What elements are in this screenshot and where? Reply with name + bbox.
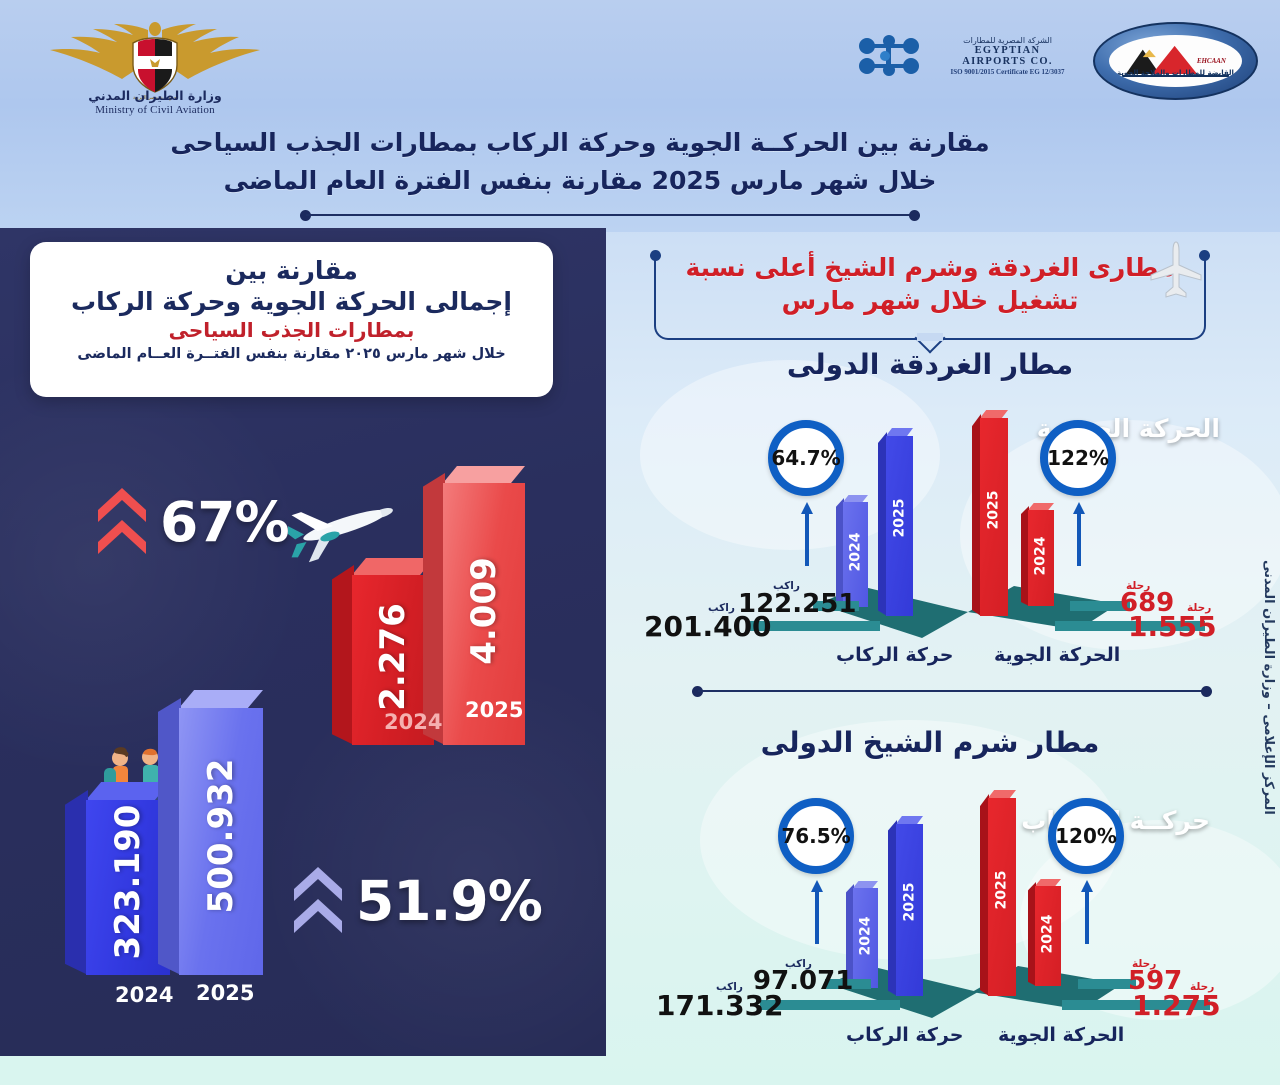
ministry-logo-caption: وزارة الطيران المدني Ministry of Civil A… — [30, 88, 280, 117]
bar-top-face — [843, 495, 868, 502]
summary-line-2: إجمالى الحركة الجوية وحركة الركاب — [30, 286, 553, 317]
summary-line-3: بمطارات الجذب السياحى — [30, 317, 553, 344]
total-air-traffic-percent: 67% — [160, 490, 289, 554]
page-title: مقارنة بين الحركــة الجوية وحركة الركاب … — [150, 124, 1010, 200]
bar-top-face — [1028, 503, 1054, 510]
divider-line — [698, 690, 1206, 692]
hurghada-flights-year-2025: 2025 — [986, 487, 1002, 534]
bar-top-face — [1035, 879, 1061, 886]
sharm-flights-value-2025: 1.275 — [1132, 989, 1221, 1022]
sharm-passengers-up-arrow — [810, 880, 824, 944]
sharm-passengers-value-2025: 171.332 — [656, 989, 784, 1022]
total-passengers-year-2025: 2025 — [196, 981, 254, 1005]
summary-line-1: مقارنة بين — [30, 256, 553, 286]
sharm-flights-category: الحركة الجوية — [998, 1024, 1124, 1046]
total-passengers-value-2024: 323.190 — [108, 800, 148, 964]
bar-side-face — [158, 698, 181, 975]
bar-top-face — [980, 410, 1008, 418]
total-air-traffic-value-2025: 4.009 — [464, 548, 504, 674]
total-passengers-bar-2025: 500.932 — [179, 708, 263, 975]
sharm-flights-year-2025: 2025 — [994, 867, 1010, 914]
sharm-flights-up-arrow — [1080, 880, 1094, 944]
hurghada-flights-category: الحركة الجوية — [994, 644, 1120, 666]
sharm-passengers-percent: 76.5% — [781, 824, 850, 848]
sharm-passengers-year-2024: 2024 — [858, 913, 874, 960]
hurghada-flights-bar-2025: 2025 — [980, 418, 1008, 616]
hurghada-passengers-year-2025: 2025 — [892, 495, 908, 542]
panel-glow-1 — [0, 348, 310, 778]
divider-dot-right — [1201, 686, 1212, 697]
airports-iso-certificate: ISO 9001/2015 Certificate EG 12/3037 — [945, 68, 1070, 76]
sharm-flights-percent-badge: 120% — [1048, 798, 1124, 874]
bar-top-face — [896, 816, 923, 824]
total-air-traffic-year-2025: 2025 — [465, 698, 523, 722]
divider-top — [300, 210, 920, 220]
bar-top-face — [853, 881, 878, 888]
airports-name-english: EGYPTIAN AIRPORTS CO. — [945, 45, 1070, 67]
total-passengers-percent: 51.9% — [356, 869, 542, 933]
airplane-icon-headline — [1148, 238, 1204, 300]
bar-top-face — [352, 558, 434, 575]
total-air-traffic-value-2024: 2.276 — [373, 594, 413, 720]
sharm-flights-percent: 120% — [1055, 824, 1117, 848]
hurghada-flights-bar-2024: 2024 — [1028, 510, 1054, 606]
divider-line — [306, 214, 914, 216]
sharm-passengers-bar-2024: 2024 — [853, 888, 878, 988]
hurghada-flights-year-2024: 2024 — [1033, 533, 1049, 580]
hurghada-flights-percent-badge: 122% — [1040, 420, 1116, 496]
total-passengers-value-2025: 500.932 — [201, 754, 241, 918]
headline-text: مطارى الغردقة وشرم الشيخ أعلى نسبة تشغيل… — [660, 252, 1200, 317]
divider-dot-right — [909, 210, 920, 221]
airplane-icon-left — [288, 492, 398, 564]
total-air-traffic-growth: 67% — [96, 486, 289, 558]
page-title-line-2: خلال شهر مارس 2025 مقارنة بنفس الفترة ال… — [150, 162, 1010, 200]
hurghada-flights-percent: 122% — [1047, 446, 1109, 470]
hurghada-passengers-year-2024: 2024 — [848, 529, 864, 576]
total-air-traffic-year-2024: 2024 — [384, 710, 442, 734]
chevron-up-icon-red — [96, 486, 148, 558]
hurghada-passengers-category: حركة الركاب — [836, 644, 953, 666]
hurghada-passengers-percent: 64.7% — [771, 446, 840, 470]
airport-title-sharm: مطار شرم الشيخ الدولى — [650, 726, 1210, 759]
sharm-passengers-category: حركة الركاب — [846, 1024, 963, 1046]
page-title-line-1: مقارنة بين الحركــة الجوية وحركة الركاب … — [150, 124, 1010, 162]
media-center-credit: المركز الإعلامى – وزارة الطيران المدنى — [1261, 560, 1276, 815]
airport-title-hurghada: مطار الغردقة الدولى — [650, 348, 1210, 381]
total-passengers-bar-2024: 323.190 — [86, 800, 170, 975]
ehcaan-logo-inner: EHCAAN القابضة للمطارات والملاحة الجوية — [1109, 35, 1242, 87]
sharm-passengers-year-2025: 2025 — [902, 879, 918, 926]
headline: مطارى الغردقة وشرم الشيخ أعلى نسبة تشغيل… — [660, 252, 1200, 340]
total-passengers-year-2024: 2024 — [115, 983, 173, 1007]
bar-top-face — [443, 466, 525, 483]
bar-top-face — [988, 790, 1016, 798]
ministry-name-english: Ministry of Civil Aviation — [30, 104, 280, 118]
chevron-up-icon-blue — [292, 865, 344, 937]
ehcaan-logo: EHCAAN القابضة للمطارات والملاحة الجوية — [1093, 22, 1258, 100]
egyptian-airports-logo-text: الشركة المصرية للمطارات EGYPTIAN AIRPORT… — [945, 36, 1070, 76]
hurghada-flights-value-2025: 1.555 — [1128, 610, 1217, 643]
hurghada-passengers-bar-2025: 2025 — [886, 436, 913, 616]
airport-chart-hurghada: 64.7% 122% 2024 2025 2025 2024 — [650, 398, 1210, 666]
hurghada-passengers-value-2025: 201.400 — [644, 610, 772, 643]
summary-card: مقارنة بين إجمالى الحركة الجوية وحركة ال… — [30, 242, 553, 397]
hurghada-passengers-up-arrow — [800, 502, 814, 566]
airport-chart-sharm: 76.5% 120% 2024 2025 2025 2024 — [650, 776, 1210, 1044]
ehcaan-name-arabic: القابضة للمطارات والملاحة الجوية — [1109, 69, 1242, 77]
hurghada-passengers-percent-badge: 64.7% — [768, 420, 844, 496]
airports-name-arabic: الشركة المصرية للمطارات — [945, 36, 1070, 45]
sharm-flights-bar-2024: 2024 — [1035, 886, 1061, 986]
total-passengers-growth: 51.9% — [292, 865, 542, 937]
divider-middle — [692, 686, 1212, 696]
hurghada-flights-up-arrow — [1072, 502, 1086, 566]
summary-line-4: خلال شهر مارس ٢٠٢٥ مقارنة بنفس الفتــرة … — [30, 346, 553, 362]
bar-top-face — [886, 428, 913, 436]
ehcaan-name-english: EHCAAN — [1197, 57, 1226, 65]
sharm-flights-year-2024: 2024 — [1040, 911, 1056, 958]
bar-side-face — [332, 565, 354, 745]
ministry-name-arabic: وزارة الطيران المدني — [30, 88, 280, 104]
bar-side-face — [65, 790, 88, 975]
sharm-passengers-percent-badge: 76.5% — [778, 798, 854, 874]
sharm-passengers-bar-2025: 2025 — [896, 824, 923, 996]
bar-side-face — [423, 473, 445, 745]
sharm-flights-bar-2025: 2025 — [988, 798, 1016, 996]
